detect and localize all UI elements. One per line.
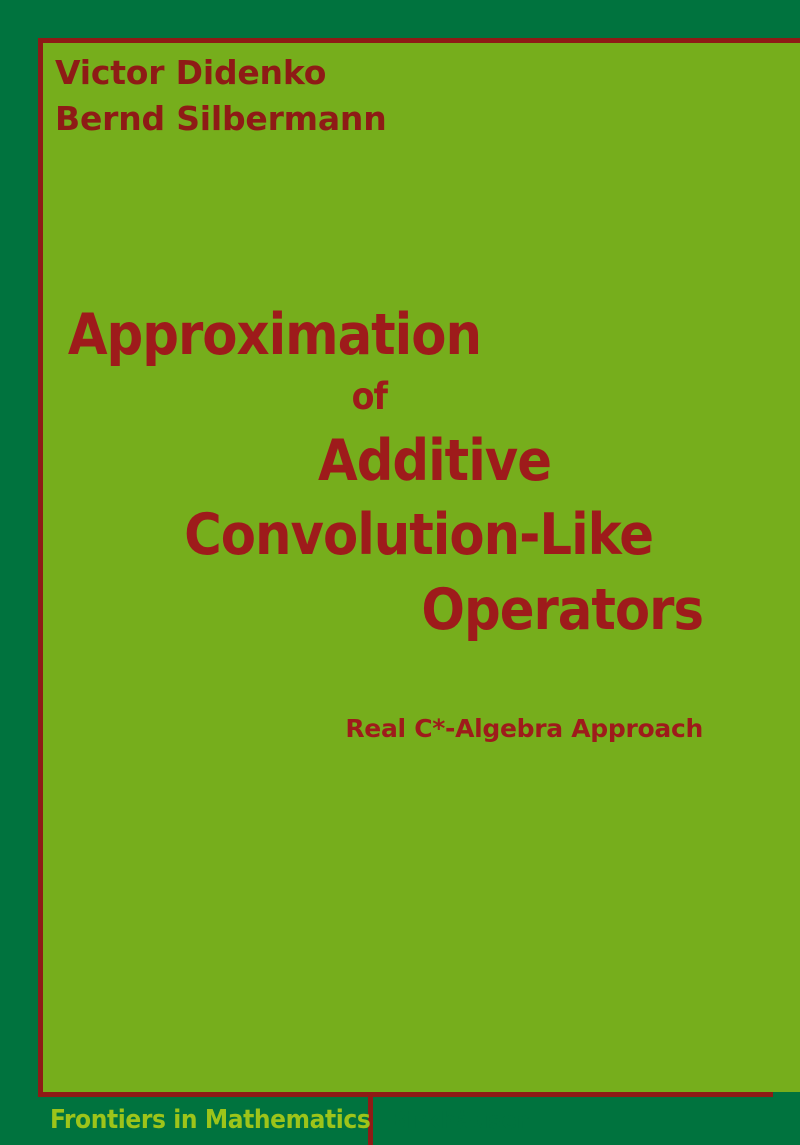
title-line-2: of xyxy=(43,370,703,424)
title-line-1: Approximation xyxy=(43,300,703,370)
panel-rule-top xyxy=(38,38,800,43)
author-list: Victor Didenko Bernd Silbermann xyxy=(55,50,715,142)
publisher-logo: Birkhäuser xyxy=(389,1108,528,1134)
title-line-5: Operators xyxy=(43,572,703,648)
title-line-3: Additive xyxy=(43,424,703,498)
book-cover: Victor Didenko Bernd Silbermann Approxim… xyxy=(0,0,800,1145)
title-line-4: Convolution-Like xyxy=(43,498,703,572)
series-name: Frontiers in Mathematics xyxy=(50,1105,370,1135)
book-title: Approximation of Additive Convolution-Li… xyxy=(43,300,703,648)
author-name-1: Victor Didenko xyxy=(55,50,715,96)
author-name-2: Bernd Silbermann xyxy=(55,96,715,142)
book-subtitle: Real C*-Algebra Approach xyxy=(43,714,703,743)
